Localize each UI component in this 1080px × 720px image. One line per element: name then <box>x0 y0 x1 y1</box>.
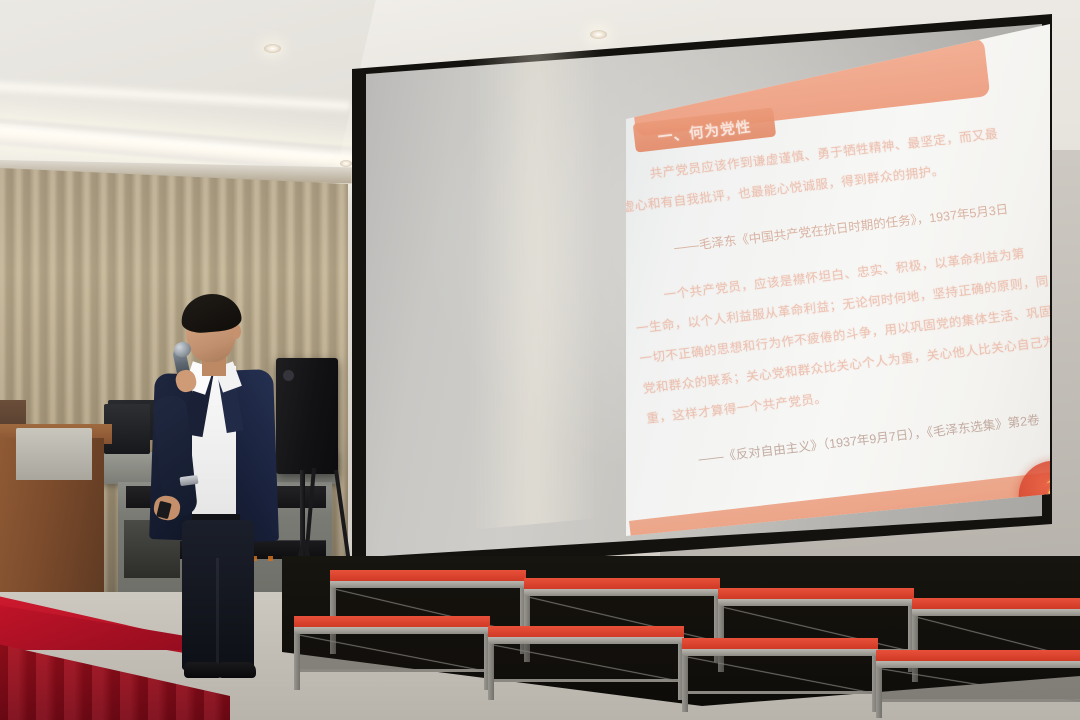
podium-panel <box>16 428 92 480</box>
riser-segment-front <box>294 616 490 694</box>
photo-scene: 一、何为党性 共产党员应该作到谦虚谨慎、勇于牺牲精神、最坚定，而又最 虚心和有自… <box>0 0 1080 720</box>
riser-segment-front <box>682 638 878 716</box>
trouser-seam <box>216 558 219 670</box>
shoe-left <box>184 662 222 678</box>
presenter <box>148 300 280 680</box>
downlight-icon <box>340 160 352 167</box>
pa-speaker <box>276 358 338 474</box>
riser-segment-front <box>488 626 684 704</box>
riser-segment-front <box>876 650 1080 720</box>
slide-title: 一、何为党性 <box>656 114 752 146</box>
slide-body: 共产党员应该作到谦虚谨慎、勇于牺牲精神、最坚定，而又最 虚心和有自我批评，也最能… <box>626 115 1050 481</box>
downlight-icon <box>264 44 281 53</box>
shoe-right <box>218 662 256 678</box>
downlight-icon <box>590 30 607 39</box>
